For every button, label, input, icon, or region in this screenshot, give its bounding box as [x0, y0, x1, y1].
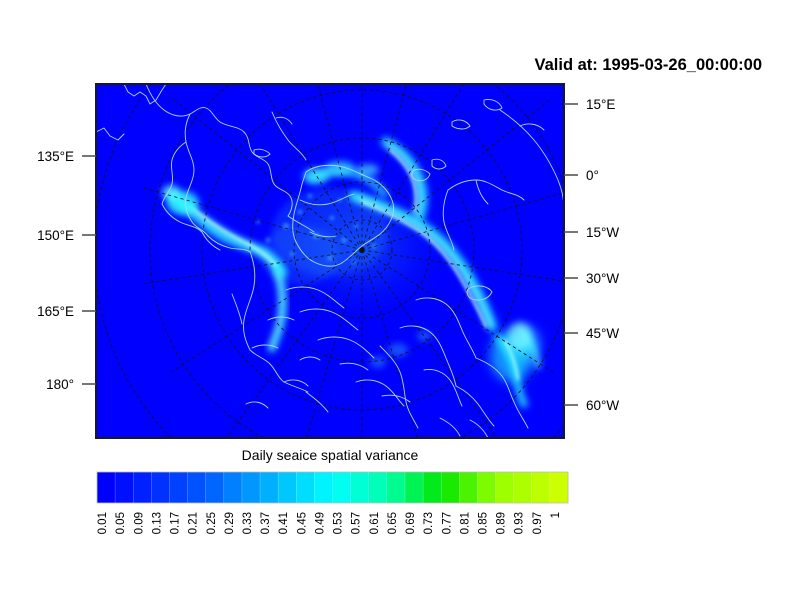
- left-axis-label-1: 150°E: [37, 228, 74, 243]
- colorbar-tick-label: 0.21: [188, 512, 200, 534]
- colorbar-tick-label: 0.09: [133, 512, 145, 534]
- colorbar-segment: [496, 472, 515, 503]
- colorbar-tick-label: 0.13: [151, 512, 163, 534]
- colorbar-segment: [550, 472, 569, 503]
- colorbar-tick-label: 0.77: [441, 512, 453, 534]
- colorbar-tick-label: 0.81: [459, 512, 471, 534]
- colorbar-tick-label: 0.33: [242, 512, 254, 534]
- colorbar-tick-label: 0.89: [496, 512, 508, 534]
- colorbar-segment: [333, 472, 352, 503]
- colorbar-segment: [459, 472, 478, 503]
- colorbar-tick-label: 0.37: [260, 512, 272, 534]
- colorbar-tick-label: 0.73: [423, 512, 435, 534]
- colorbar-segment: [477, 472, 496, 503]
- colorbar-tick-label: 0.65: [387, 512, 399, 534]
- colorbar-tick-label: 0.97: [532, 512, 544, 534]
- colorbar-segment: [97, 472, 116, 503]
- right-axis-label-2: 15°W: [586, 225, 619, 240]
- colorbar-segment: [514, 472, 533, 503]
- colorbar-tick-label: 0.17: [170, 512, 182, 534]
- colorbar-segment: [260, 472, 279, 503]
- colorbar-tick-label: 0.53: [333, 512, 345, 534]
- plot-caption: Daily seaice spatial variance: [242, 447, 419, 463]
- colorbar-segment: [532, 472, 551, 503]
- colorbar-segment: [278, 472, 297, 503]
- right-axis-label-1: 0°: [586, 168, 599, 183]
- colorbar-tick-label: 0.85: [477, 512, 489, 534]
- colorbar-tick-label: 1: [550, 512, 562, 518]
- colorbar-segment: [169, 472, 188, 503]
- colorbar-segment: [423, 472, 442, 503]
- seaice-variance-figure: Valid at: 1995-03-26_00:00:00: [0, 0, 792, 612]
- colorbar-tick-label: 0.25: [206, 512, 218, 534]
- right-axis-label-0: 15°E: [586, 97, 615, 112]
- colorbar-tick-label: 0.41: [278, 512, 290, 534]
- colorbar-swatches: [97, 472, 568, 503]
- colorbar-segment: [133, 472, 152, 503]
- colorbar-segment: [405, 472, 424, 503]
- colorbar-tick-label: 0.93: [514, 512, 526, 534]
- left-axis-label-3: 180°: [46, 377, 74, 392]
- right-axis-label-5: 60°W: [586, 398, 619, 413]
- right-axis-label-3: 30°W: [586, 271, 619, 286]
- colorbar-segment: [351, 472, 370, 503]
- colorbar-segment: [242, 472, 261, 503]
- colorbar-segment: [188, 472, 207, 503]
- colorbar-tick-label: 0.01: [97, 512, 109, 534]
- colorbar-segment: [296, 472, 315, 503]
- colorbar-tick-label: 0.45: [296, 512, 308, 534]
- colorbar-tick-label: 0.49: [314, 512, 326, 534]
- page-title: Valid at: 1995-03-26_00:00:00: [535, 56, 762, 74]
- colorbar-segment: [369, 472, 388, 503]
- colorbar-segment: [151, 472, 170, 503]
- colorbar-segment: [314, 472, 333, 503]
- colorbar-segment: [441, 472, 460, 503]
- left-axis-label-0: 135°E: [37, 149, 74, 164]
- right-axis-label-4: 45°W: [586, 326, 619, 341]
- left-axis-label-2: 165°E: [37, 304, 74, 319]
- colorbar-tick-label: 0.61: [369, 512, 381, 534]
- colorbar-segment: [115, 472, 134, 503]
- colorbar-tick-label: 0.69: [405, 512, 417, 534]
- colorbar-tick-label: 0.57: [351, 512, 363, 534]
- colorbar-segment: [224, 472, 243, 503]
- colorbar-tick-label: 0.05: [115, 512, 127, 534]
- colorbar-segment: [206, 472, 225, 503]
- colorbar-tick-label: 0.29: [224, 512, 236, 534]
- colorbar-segment: [387, 472, 406, 503]
